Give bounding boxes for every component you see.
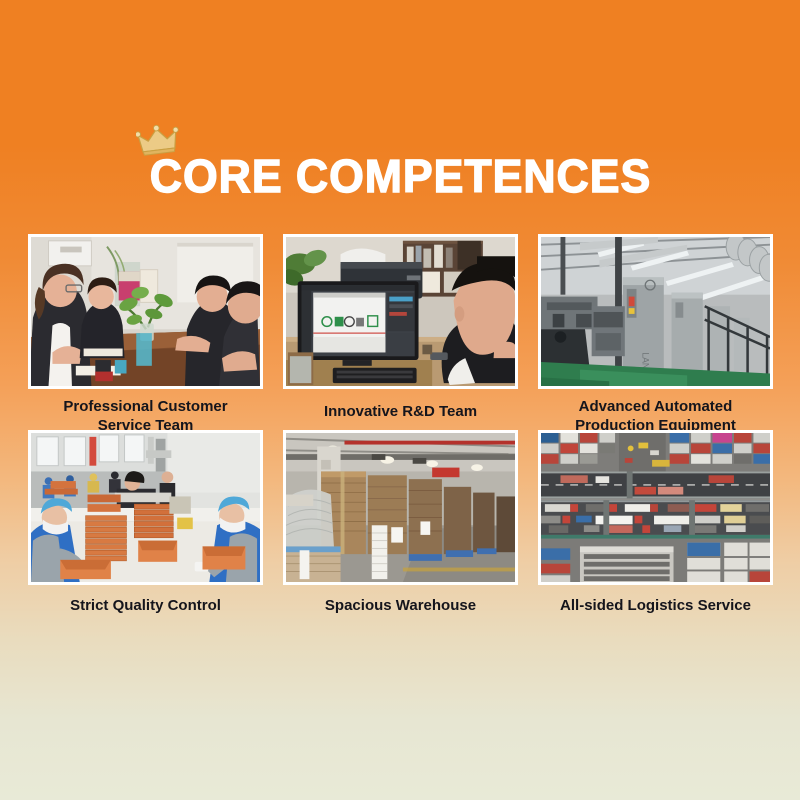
tile-professional-customer-service-team[interactable]: Professional Customer Service Team xyxy=(28,234,263,435)
tile-image-quality-control[interactable] xyxy=(28,430,263,585)
tile-image-warehouse[interactable] xyxy=(283,430,518,585)
tile-caption: Strict Quality Control xyxy=(28,585,263,615)
tile-caption: Advanced Automated Production Equipment xyxy=(538,389,773,435)
tile-caption: All-sided Logistics Service xyxy=(538,585,773,615)
tile-image-logistics-aerial[interactable] xyxy=(538,430,773,585)
tile-grid-row-1: Professional Customer Service Team xyxy=(28,234,772,435)
core-competences-banner: CORE COMPETENCES xyxy=(0,0,800,800)
tile-caption: Innovative R&D Team xyxy=(283,389,518,421)
tile-caption: Professional Customer Service Team xyxy=(28,389,263,435)
tile-advanced-automated-production-equipment[interactable]: LAND 800 xyxy=(538,234,773,435)
page-title-text: CORE COMPETENCES xyxy=(149,150,650,202)
tile-image-meeting-room[interactable] xyxy=(28,234,263,389)
tile-spacious-warehouse[interactable]: Spacious Warehouse xyxy=(283,430,518,615)
tile-image-printing-press[interactable]: LAND 800 xyxy=(538,234,773,389)
tile-all-sided-logistics-service[interactable]: All-sided Logistics Service xyxy=(538,430,773,615)
page-title: CORE COMPETENCES xyxy=(0,150,800,202)
tile-image-designer-monitor[interactable] xyxy=(283,234,518,389)
tile-caption: Spacious Warehouse xyxy=(283,585,518,615)
tile-strict-quality-control[interactable]: Strict Quality Control xyxy=(28,430,263,615)
tile-grid-row-2: Strict Quality Control xyxy=(28,430,772,615)
tile-innovative-rd-team[interactable]: Innovative R&D Team xyxy=(283,234,518,435)
